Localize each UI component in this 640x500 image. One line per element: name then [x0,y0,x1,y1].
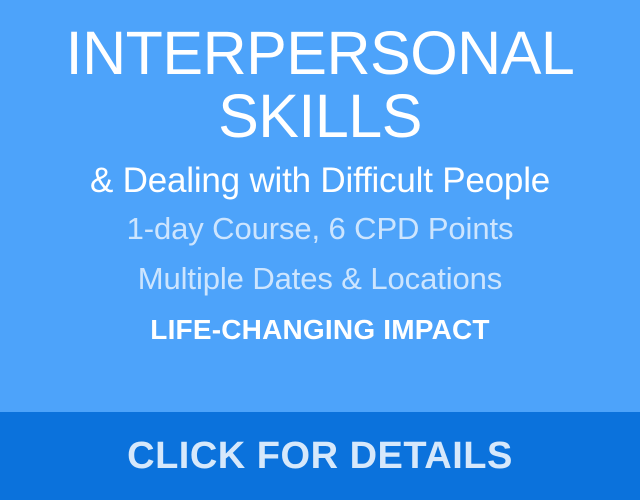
cta-button-label: CLICK FOR DETAILS [127,434,513,478]
subheadline: & Dealing with Difficult People [0,158,640,204]
ad-content-area: INTERPERSONAL SKILLS & Dealing with Diff… [0,0,640,412]
headline-line-1: INTERPERSONAL [0,22,640,85]
advertisement-banner[interactable]: INTERPERSONAL SKILLS & Dealing with Diff… [0,0,640,500]
cta-button[interactable]: CLICK FOR DETAILS [0,412,640,500]
detail-line-course-info: 1-day Course, 6 CPD Points [0,204,640,254]
headline-line-2: SKILLS [0,85,640,148]
impact-tagline: LIFE-CHANGING IMPACT [0,310,640,350]
detail-line-dates-locations: Multiple Dates & Locations [0,254,640,304]
